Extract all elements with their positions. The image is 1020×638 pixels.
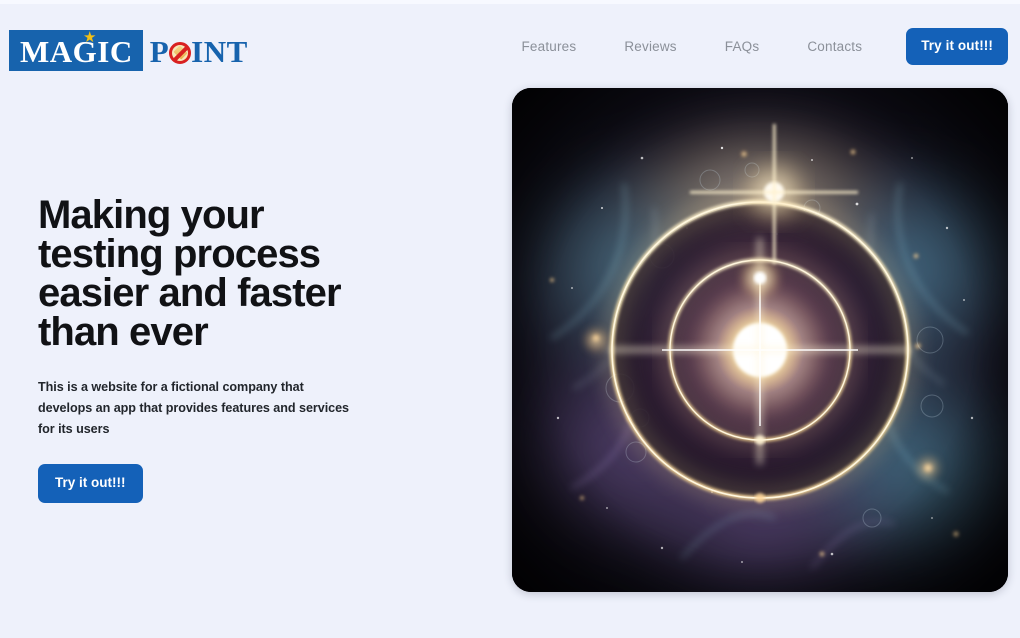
nav-link-reviews[interactable]: Reviews: [624, 31, 676, 62]
hero-headline: Making your testing process easier and f…: [38, 196, 368, 352]
no-entry-icon: [169, 42, 191, 64]
hero-artwork: [512, 88, 1008, 592]
hero-subtext: This is a website for a fictional compan…: [38, 377, 358, 440]
header-try-it-out-button[interactable]: Try it out!!!: [906, 28, 1008, 65]
logo-point-prefix: P: [150, 36, 169, 67]
site-logo[interactable]: MAGIC ★ P INT: [9, 26, 248, 74]
landing-page: MAGIC ★ P INT Features Reviews FAQs Cont…: [0, 0, 1020, 638]
cosmic-rings-artwork: [512, 88, 1008, 592]
main-navigation: Features Reviews FAQs Contacts Try it ou…: [521, 28, 1008, 65]
hero-text-block: Making your testing process easier and f…: [38, 196, 438, 503]
logo-point-suffix: INT: [191, 36, 248, 67]
logo-word-magic: MAGIC: [20, 36, 133, 67]
nav-link-faqs[interactable]: FAQs: [725, 31, 760, 62]
logo-word-point: P INT: [150, 36, 248, 67]
logo-badge: MAGIC ★: [9, 30, 143, 71]
star-icon: ★: [83, 31, 96, 44]
site-header: MAGIC ★ P INT Features Reviews FAQs Cont…: [0, 4, 1020, 96]
nav-link-contacts[interactable]: Contacts: [807, 31, 862, 62]
hero-try-it-out-button[interactable]: Try it out!!!: [38, 464, 143, 503]
nav-link-features[interactable]: Features: [521, 31, 576, 62]
